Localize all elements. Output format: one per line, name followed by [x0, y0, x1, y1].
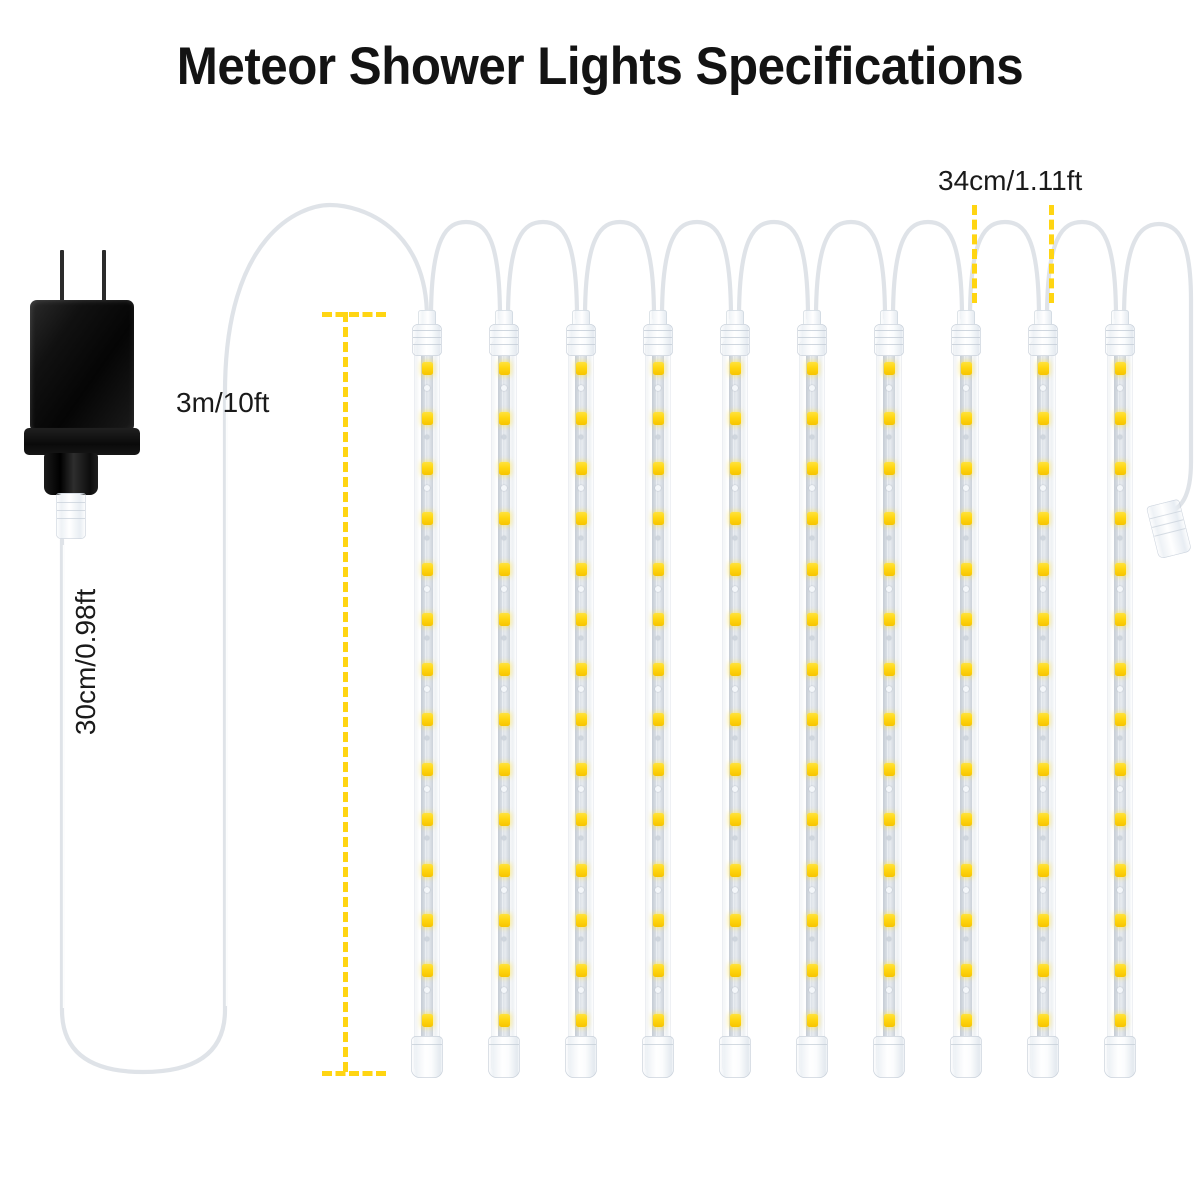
led-chip [961, 964, 972, 977]
strip-solder-dot [502, 536, 506, 540]
led-chip [422, 362, 433, 375]
led-chip [884, 412, 895, 425]
light-tube [876, 340, 902, 1072]
light-tube [1030, 340, 1056, 1072]
strip-solder-dot [732, 586, 738, 592]
led-strip-board [575, 340, 587, 1072]
strip-solder-dot [501, 686, 507, 692]
strip-solder-dot [1118, 636, 1122, 640]
led-chip [653, 914, 664, 927]
tube-top-cap [489, 310, 519, 356]
led-chip [730, 813, 741, 826]
strip-solder-dot [425, 636, 429, 640]
led-chip [884, 964, 895, 977]
led-strip-board [652, 340, 664, 1072]
led-chip [807, 864, 818, 877]
led-chip [499, 914, 510, 927]
strip-solder-dot [1117, 686, 1123, 692]
light-tube [568, 340, 594, 1072]
led-chip [1038, 462, 1049, 475]
strip-solder-dot [1117, 586, 1123, 592]
led-chip [1115, 512, 1126, 525]
plug-prong-left [60, 250, 64, 302]
led-chip [576, 1014, 587, 1027]
light-tube [491, 340, 517, 1072]
adapter-knob [44, 453, 98, 495]
strip-solder-dot [810, 636, 814, 640]
adapter-body [30, 300, 134, 432]
tube-top-cap [643, 310, 673, 356]
led-chip [884, 362, 895, 375]
led-chip [730, 914, 741, 927]
led-chip [807, 1014, 818, 1027]
led-chip [730, 462, 741, 475]
led-chip [499, 813, 510, 826]
lead-cable-label: 3m/10ft [176, 387, 269, 419]
strip-solder-dot [809, 987, 815, 993]
led-chip [1038, 412, 1049, 425]
tube-spacing-tick-right [1049, 205, 1054, 303]
led-chip [1115, 864, 1126, 877]
tail-cable-path [1124, 224, 1191, 512]
led-chip [1115, 462, 1126, 475]
strip-solder-dot [502, 636, 506, 640]
led-chip [499, 763, 510, 776]
tube-top-cap [566, 310, 596, 356]
strip-solder-dot [425, 536, 429, 540]
strip-solder-dot [963, 586, 969, 592]
strip-solder-dot [578, 987, 584, 993]
led-chip [422, 964, 433, 977]
led-chip [576, 563, 587, 576]
tube-length-guide-line [343, 312, 348, 1072]
strip-solder-dot [733, 636, 737, 640]
led-chip [1115, 663, 1126, 676]
led-chip [499, 563, 510, 576]
led-chip [576, 813, 587, 826]
tube-top-cap [1028, 310, 1058, 356]
led-chip [884, 563, 895, 576]
tube-bottom-cap [1027, 1036, 1059, 1078]
led-strip-board [960, 340, 972, 1072]
tube-bottom-cap [1104, 1036, 1136, 1078]
led-chip [422, 462, 433, 475]
strip-solder-dot [964, 536, 968, 540]
led-strip-board [1114, 340, 1126, 1072]
led-chip [422, 813, 433, 826]
led-chip [1038, 362, 1049, 375]
led-chip [576, 412, 587, 425]
led-chip [730, 563, 741, 576]
strip-solder-dot [655, 686, 661, 692]
tube-top-cap [797, 310, 827, 356]
led-chip [422, 412, 433, 425]
led-chip [884, 813, 895, 826]
strip-solder-dot [810, 536, 814, 540]
tube-bottom-cap [488, 1036, 520, 1078]
strip-solder-dot [656, 636, 660, 640]
tube-top-cap [720, 310, 750, 356]
tube-spacing-label: 34cm/1.11ft [938, 165, 1082, 197]
strip-solder-dot [809, 686, 815, 692]
strip-solder-dot [578, 686, 584, 692]
led-chip [653, 412, 664, 425]
led-chip [884, 663, 895, 676]
strip-solder-dot [579, 937, 583, 941]
plug-prong-right [102, 250, 106, 302]
led-chip [1038, 1014, 1049, 1027]
strip-solder-dot [424, 586, 430, 592]
strip-solder-dot [1118, 937, 1122, 941]
led-chip [499, 964, 510, 977]
led-chip [807, 412, 818, 425]
led-chip [1038, 663, 1049, 676]
led-chip [1115, 412, 1126, 425]
led-chip [1115, 613, 1126, 626]
led-chip [807, 763, 818, 776]
led-chip [653, 563, 664, 576]
light-tube [799, 340, 825, 1072]
tube-bottom-cap [411, 1036, 443, 1078]
led-chip [1115, 813, 1126, 826]
led-chip [884, 914, 895, 927]
led-chip [653, 864, 664, 877]
led-chip [961, 864, 972, 877]
led-chip [961, 713, 972, 726]
light-tube [414, 340, 440, 1072]
led-chip [961, 462, 972, 475]
led-chip [884, 512, 895, 525]
led-chip [884, 613, 895, 626]
led-chip [576, 613, 587, 626]
strip-solder-dot [1040, 586, 1046, 592]
led-chip [961, 663, 972, 676]
led-chip [576, 512, 587, 525]
led-chip [576, 964, 587, 977]
led-chip [961, 563, 972, 576]
led-chip [422, 914, 433, 927]
strip-solder-dot [502, 937, 506, 941]
led-chip [807, 663, 818, 676]
led-chip [1115, 914, 1126, 927]
led-chip [807, 563, 818, 576]
strip-solder-dot [732, 686, 738, 692]
tube-connector-arcs [431, 222, 1116, 318]
led-chip [1115, 1014, 1126, 1027]
led-chip [730, 663, 741, 676]
led-chip [576, 914, 587, 927]
led-chip [499, 362, 510, 375]
led-chip [576, 462, 587, 475]
led-chip [730, 613, 741, 626]
power-adapter [16, 250, 156, 550]
strip-solder-dot [1040, 686, 1046, 692]
strip-solder-dot [501, 586, 507, 592]
end-connector [1146, 499, 1192, 560]
strip-solder-dot [809, 586, 815, 592]
strip-solder-dot [886, 686, 892, 692]
led-chip [499, 512, 510, 525]
strip-solder-dot [655, 987, 661, 993]
strip-solder-dot [887, 937, 891, 941]
strip-solder-dot [1041, 536, 1045, 540]
tube-bottom-cap [642, 1036, 674, 1078]
strip-solder-dot [579, 536, 583, 540]
tube-bottom-cap [565, 1036, 597, 1078]
led-chip [499, 713, 510, 726]
led-chip [499, 412, 510, 425]
led-chip [1115, 763, 1126, 776]
led-chip [576, 763, 587, 776]
adapter-base [24, 428, 140, 455]
tube-bottom-cap [950, 1036, 982, 1078]
led-chip [1038, 914, 1049, 927]
led-chip [961, 1014, 972, 1027]
strip-solder-dot [1040, 987, 1046, 993]
led-strip-board [883, 340, 895, 1072]
strip-solder-dot [733, 937, 737, 941]
strip-solder-dot [887, 536, 891, 540]
led-chip [961, 412, 972, 425]
led-chip [961, 763, 972, 776]
strip-solder-dot [656, 937, 660, 941]
led-chip [730, 864, 741, 877]
led-chip [1115, 964, 1126, 977]
led-chip [807, 914, 818, 927]
led-chip [961, 613, 972, 626]
light-tube [722, 340, 748, 1072]
led-chip [653, 462, 664, 475]
strip-solder-dot [809, 887, 815, 893]
led-chip [730, 964, 741, 977]
tube-length-label: 30cm/0.98ft [70, 567, 102, 757]
led-chip [884, 763, 895, 776]
tube-bottom-cap [796, 1036, 828, 1078]
tube-length-guide-top [322, 312, 386, 317]
led-chip [653, 512, 664, 525]
tube-length-guide-bottom [322, 1071, 386, 1076]
led-chip [730, 713, 741, 726]
adapter-output-connector [56, 493, 86, 539]
led-chip [653, 1014, 664, 1027]
led-chip [576, 713, 587, 726]
led-chip [807, 362, 818, 375]
led-chip [1115, 563, 1126, 576]
strip-solder-dot [501, 887, 507, 893]
led-chip [730, 763, 741, 776]
led-chip [422, 713, 433, 726]
led-chip [576, 362, 587, 375]
led-chip [961, 362, 972, 375]
strip-solder-dot [655, 887, 661, 893]
strip-solder-dot [887, 636, 891, 640]
strip-solder-dot [425, 937, 429, 941]
led-chip [807, 964, 818, 977]
led-chip [422, 613, 433, 626]
led-chip [730, 412, 741, 425]
led-strip-board [1037, 340, 1049, 1072]
led-chip [422, 1014, 433, 1027]
led-chip [807, 713, 818, 726]
led-strip-board [729, 340, 741, 1072]
led-strip-board [498, 340, 510, 1072]
tube-top-cap [1105, 310, 1135, 356]
led-chip [422, 512, 433, 525]
strip-solder-dot [501, 987, 507, 993]
led-chip [422, 563, 433, 576]
led-chip [884, 713, 895, 726]
strip-solder-dot [424, 686, 430, 692]
led-chip [884, 864, 895, 877]
strip-solder-dot [424, 987, 430, 993]
strip-solder-dot [579, 636, 583, 640]
led-strip-board [806, 340, 818, 1072]
led-chip [422, 663, 433, 676]
light-tube [1107, 340, 1133, 1072]
light-tube [953, 340, 979, 1072]
led-chip [961, 813, 972, 826]
diagram-canvas: Meteor Shower Lights Specifications [0, 0, 1200, 1200]
led-chip [499, 864, 510, 877]
led-strip-board [421, 340, 433, 1072]
strip-solder-dot [886, 887, 892, 893]
strip-solder-dot [963, 987, 969, 993]
led-chip [653, 663, 664, 676]
led-chip [653, 362, 664, 375]
led-chip [576, 864, 587, 877]
tube-top-cap [412, 310, 442, 356]
led-chip [1038, 512, 1049, 525]
led-chip [653, 763, 664, 776]
strip-solder-dot [732, 887, 738, 893]
led-chip [807, 512, 818, 525]
led-chip [730, 362, 741, 375]
led-chip [730, 1014, 741, 1027]
strip-solder-dot [1117, 887, 1123, 893]
strip-solder-dot [655, 586, 661, 592]
led-chip [961, 512, 972, 525]
strip-solder-dot [1040, 887, 1046, 893]
led-chip [961, 914, 972, 927]
led-chip [653, 713, 664, 726]
led-chip [884, 462, 895, 475]
tube-spacing-tick-left [972, 205, 977, 303]
tube-bottom-cap [719, 1036, 751, 1078]
led-chip [1038, 763, 1049, 776]
strip-solder-dot [886, 987, 892, 993]
led-chip [1038, 613, 1049, 626]
led-chip [807, 462, 818, 475]
led-chip [1038, 964, 1049, 977]
strip-solder-dot [964, 937, 968, 941]
led-chip [653, 813, 664, 826]
strip-solder-dot [963, 887, 969, 893]
led-chip [1038, 813, 1049, 826]
strip-solder-dot [656, 536, 660, 540]
strip-solder-dot [964, 636, 968, 640]
led-chip [576, 663, 587, 676]
strip-solder-dot [1041, 636, 1045, 640]
led-chip [807, 613, 818, 626]
tube-top-cap [951, 310, 981, 356]
led-chip [499, 663, 510, 676]
strip-solder-dot [732, 987, 738, 993]
led-chip [730, 512, 741, 525]
strip-solder-dot [578, 887, 584, 893]
led-chip [1038, 563, 1049, 576]
led-chip [1115, 713, 1126, 726]
page-title: Meteor Shower Lights Specifications [42, 36, 1158, 97]
led-chip [422, 763, 433, 776]
light-tube [645, 340, 671, 1072]
led-chip [422, 864, 433, 877]
strip-solder-dot [810, 937, 814, 941]
led-chip [653, 613, 664, 626]
led-chip [499, 462, 510, 475]
led-chip [1038, 864, 1049, 877]
strip-solder-dot [1041, 937, 1045, 941]
led-chip [653, 964, 664, 977]
strip-solder-dot [733, 536, 737, 540]
led-chip [499, 1014, 510, 1027]
strip-solder-dot [1117, 987, 1123, 993]
strip-solder-dot [886, 586, 892, 592]
led-chip [1115, 362, 1126, 375]
strip-solder-dot [1118, 536, 1122, 540]
strip-solder-dot [424, 887, 430, 893]
tube-bottom-cap [873, 1036, 905, 1078]
strip-solder-dot [963, 686, 969, 692]
strip-solder-dot [578, 586, 584, 592]
led-chip [499, 613, 510, 626]
led-chip [1038, 713, 1049, 726]
led-chip [807, 813, 818, 826]
led-chip [884, 1014, 895, 1027]
tube-top-cap [874, 310, 904, 356]
